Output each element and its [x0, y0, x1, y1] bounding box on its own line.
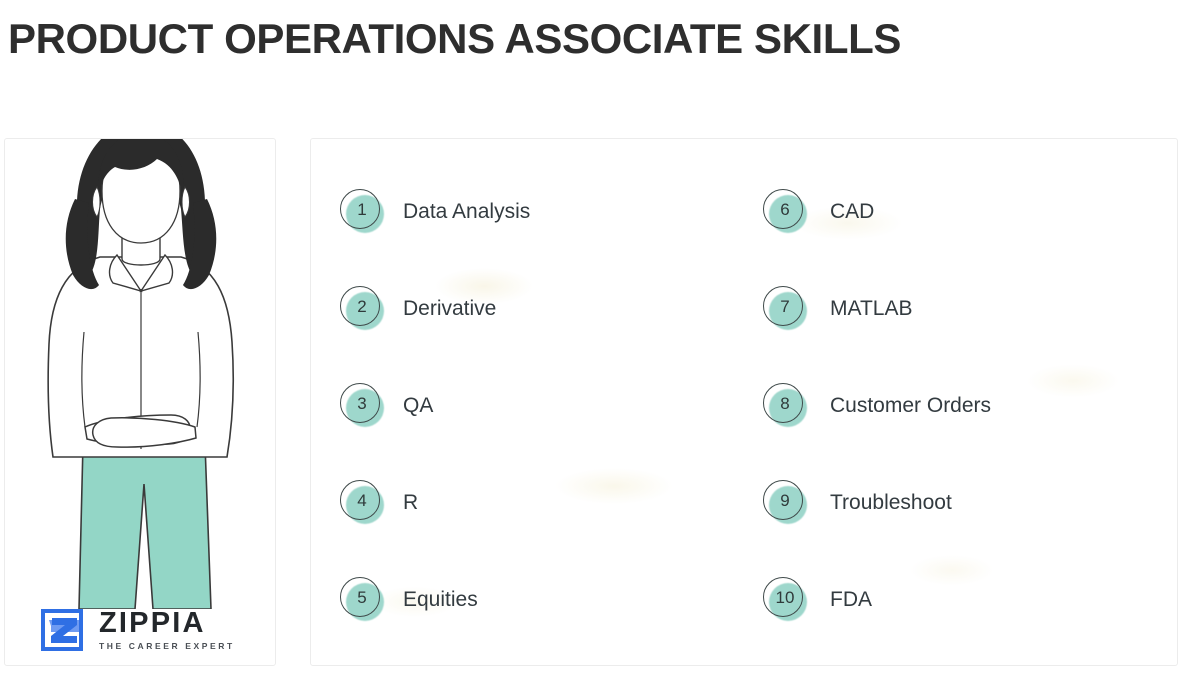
- skill-number-badge: 6: [762, 189, 808, 235]
- badge-outline-circle: 10: [763, 577, 803, 617]
- skill-number: 1: [357, 201, 366, 218]
- skill-number-badge: 9: [762, 480, 808, 526]
- skill-item: 3 QA: [339, 383, 744, 429]
- skill-label: FDA: [830, 588, 872, 612]
- skill-number-badge: 10: [762, 577, 808, 623]
- skill-label: Data Analysis: [403, 200, 530, 224]
- badge-outline-circle: 5: [340, 577, 380, 617]
- skill-item: 1 Data Analysis: [339, 189, 744, 235]
- badge-outline-circle: 8: [763, 383, 803, 423]
- skill-label: Troubleshoot: [830, 491, 952, 515]
- skill-number: 6: [780, 201, 789, 218]
- skill-number-badge: 5: [339, 577, 385, 623]
- skill-number-badge: 7: [762, 286, 808, 332]
- badge-outline-circle: 9: [763, 480, 803, 520]
- skill-number: 8: [780, 395, 789, 412]
- skill-item: 2 Derivative: [339, 286, 744, 332]
- skill-item: 6 CAD: [762, 189, 1177, 235]
- zippia-wordmark: ZIPPIA: [99, 609, 235, 638]
- skill-number: 4: [357, 492, 366, 509]
- skill-number-badge: 3: [339, 383, 385, 429]
- illustration-card: ZIPPIA THE CAREER EXPERT: [4, 138, 276, 666]
- skill-number: 9: [780, 492, 789, 509]
- skill-label: R: [403, 491, 418, 515]
- skill-item: 7 MATLAB: [762, 286, 1177, 332]
- skill-number: 5: [357, 589, 366, 606]
- zippia-tagline: THE CAREER EXPERT: [99, 641, 235, 651]
- skill-number: 2: [357, 298, 366, 315]
- badge-outline-circle: 6: [763, 189, 803, 229]
- badge-outline-circle: 3: [340, 383, 380, 423]
- badge-outline-circle: 4: [340, 480, 380, 520]
- skill-number-badge: 2: [339, 286, 385, 332]
- badge-outline-circle: 2: [340, 286, 380, 326]
- badge-outline-circle: 7: [763, 286, 803, 326]
- skill-label: QA: [403, 394, 433, 418]
- skill-number: 3: [357, 395, 366, 412]
- skill-number: 10: [776, 589, 795, 606]
- skills-column-left: 1 Data Analysis 2 Derivative: [311, 139, 744, 665]
- skill-item: 10 FDA: [762, 577, 1177, 623]
- skill-item: 5 Equities: [339, 577, 744, 623]
- page-title: PRODUCT OPERATIONS ASSOCIATE SKILLS: [8, 14, 901, 64]
- skill-item: 9 Troubleshoot: [762, 480, 1177, 526]
- skill-number-badge: 1: [339, 189, 385, 235]
- badge-outline-circle: 1: [340, 189, 380, 229]
- skill-item: 8 Customer Orders: [762, 383, 1177, 429]
- skills-panel: 1 Data Analysis 2 Derivative: [310, 138, 1178, 666]
- skill-number-badge: 8: [762, 383, 808, 429]
- skill-label: Customer Orders: [830, 394, 991, 418]
- skill-label: Equities: [403, 588, 478, 612]
- skill-number: 7: [780, 298, 789, 315]
- skills-column-right: 6 CAD 7 MATLAB 8: [744, 139, 1177, 665]
- skill-label: Derivative: [403, 297, 496, 321]
- zippia-logo: ZIPPIA THE CAREER EXPERT: [39, 603, 235, 657]
- person-illustration: [5, 139, 276, 609]
- zippia-z-mark-icon: [39, 606, 87, 654]
- skill-label: MATLAB: [830, 297, 912, 321]
- skill-label: CAD: [830, 200, 874, 224]
- skill-item: 4 R: [339, 480, 744, 526]
- skill-number-badge: 4: [339, 480, 385, 526]
